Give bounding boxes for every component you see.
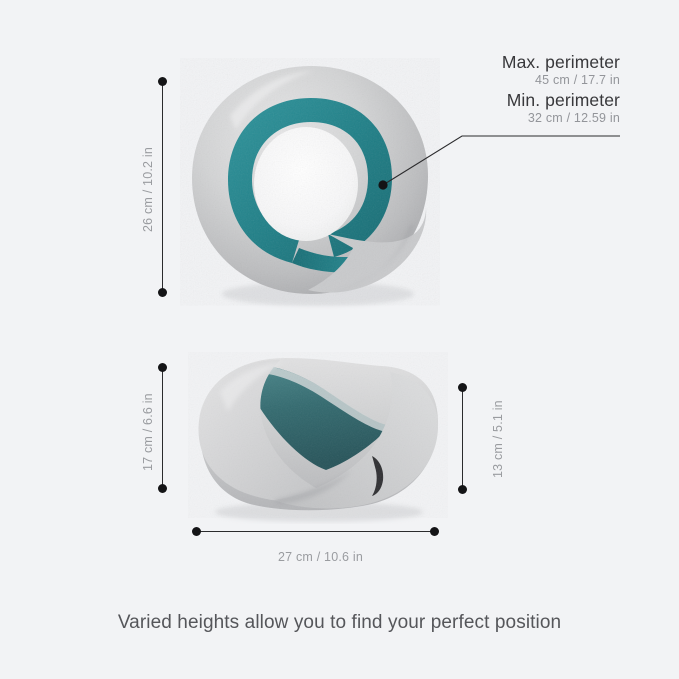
callout-leader-line: [370, 125, 630, 200]
dimension-endpoint-dot: [458, 383, 467, 392]
max-perimeter-value: 45 cm / 17.7 in: [502, 73, 620, 88]
dimension-endpoint-dot: [458, 485, 467, 494]
dimension-label-front-right-height: 13 cm / 5.1 in: [491, 400, 505, 478]
dimension-endpoint-dot: [158, 363, 167, 372]
dimension-label-front-height: 17 cm / 6.6 in: [141, 393, 155, 471]
max-perimeter-label: Max. perimeter: [502, 52, 620, 73]
perimeter-callout: Max. perimeter 45 cm / 17.7 in Min. peri…: [502, 52, 620, 129]
dimension-endpoint-dot: [158, 288, 167, 297]
min-perimeter-label: Min. perimeter: [502, 90, 620, 111]
dimension-endpoint-dot: [192, 527, 201, 536]
dimension-label-top-height: 26 cm / 10.2 in: [141, 147, 155, 232]
dimension-line-horizontal: [196, 531, 434, 532]
diagram-canvas: 26 cm / 10.2 in 17 cm / 6.6 in 13 cm / 5…: [0, 0, 679, 679]
dimension-line-vertical: [162, 367, 163, 488]
dimension-label-front-width: 27 cm / 10.6 in: [278, 550, 363, 564]
min-perimeter-value: 32 cm / 12.59 in: [502, 111, 620, 126]
caption-text: Varied heights allow you to find your pe…: [0, 612, 679, 634]
dimension-line-vertical: [162, 81, 163, 293]
neck-pillow-front-view: [186, 352, 448, 524]
callout-anchor-dot: [378, 180, 387, 189]
dimension-line-vertical: [462, 387, 463, 489]
dimension-endpoint-dot: [158, 484, 167, 493]
dimension-endpoint-dot: [430, 527, 439, 536]
dimension-endpoint-dot: [158, 77, 167, 86]
